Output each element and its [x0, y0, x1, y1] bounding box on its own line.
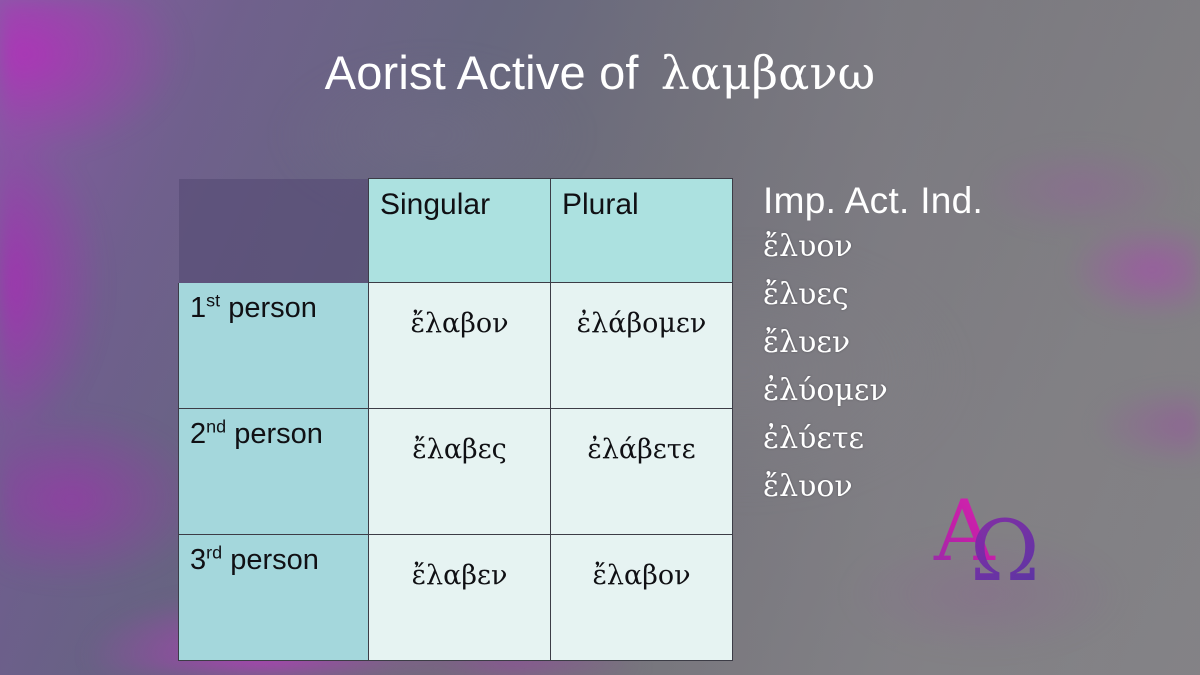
cell-second-singular: ἔλαβες [369, 409, 551, 535]
row-label-ordinal: nd [206, 416, 226, 436]
slide-title: Aorist Active ofλαμβανω [0, 48, 1200, 99]
row-label-number: 1 [190, 292, 206, 324]
row-label-number: 2 [190, 418, 206, 450]
row-label-first-person: 1st person [179, 283, 369, 409]
row-label-word: person [230, 544, 319, 576]
paradigm-item: ἐλύετε [763, 424, 1063, 454]
table-header-row: Singular Plural [179, 179, 733, 283]
paradigm-heading: Imp. Act. Ind. [763, 182, 1063, 219]
row-label-word: person [228, 292, 317, 324]
paradigm-item: ἐλύομεν [763, 376, 1063, 406]
title-latin-text: Aorist Active of [325, 46, 639, 99]
cell-first-plural: ἐλάβομεν [551, 283, 733, 409]
row-label-word: person [234, 418, 323, 450]
row-label-third-person: 3rd person [179, 535, 369, 661]
paradigm-item: ἔλυον [763, 232, 1063, 262]
logo-omega-glyph: Ω [970, 502, 1040, 582]
table-row: 3rd person ἔλαβεν ἔλαβον [179, 535, 733, 661]
table-row: 2nd person ἔλαβες ἐλάβετε [179, 409, 733, 535]
row-label-ordinal: st [206, 290, 220, 310]
cell-third-plural: ἔλαβον [551, 535, 733, 661]
row-label-number: 3 [190, 544, 206, 576]
row-label-ordinal: rd [206, 542, 222, 562]
conjugation-table: Singular Plural 1st person ἔλαβον ἐλάβομ… [178, 178, 733, 661]
table-row: 1st person ἔλαβον ἐλάβομεν [179, 283, 733, 409]
column-header-plural: Plural [551, 179, 733, 283]
cell-first-singular: ἔλαβον [369, 283, 551, 409]
slide-canvas: Aorist Active ofλαμβανω Singular Plural … [0, 0, 1200, 675]
title-greek-word: λαμβανω [639, 46, 876, 100]
alpha-omega-logo-icon: Α Ω [932, 484, 1052, 582]
paradigm-item: ἔλυεν [763, 328, 1063, 358]
imperfect-paradigm-list: Imp. Act. Ind. ἔλυον ἔλυες ἔλυεν ἐλύομεν… [763, 182, 1063, 520]
paradigm-item: ἔλυες [763, 280, 1063, 310]
cell-second-plural: ἐλάβετε [551, 409, 733, 535]
table-corner-cell [179, 179, 369, 283]
cell-third-singular: ἔλαβεν [369, 535, 551, 661]
column-header-singular: Singular [369, 179, 551, 283]
row-label-second-person: 2nd person [179, 409, 369, 535]
